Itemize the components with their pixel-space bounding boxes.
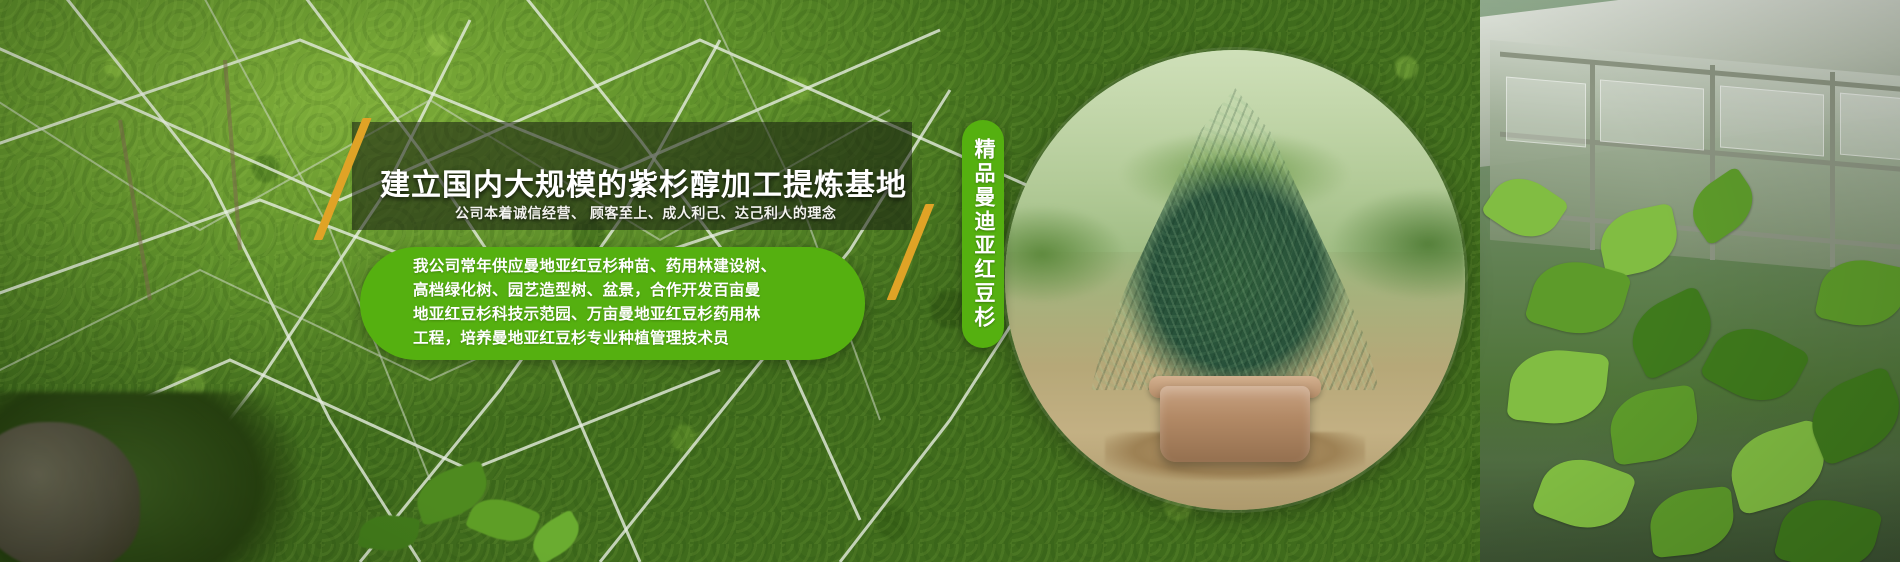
green-message-line: 我公司常年供应曼地亚红豆杉种苗、药用林建设树、 [413, 255, 843, 279]
greenhouse-pane [1506, 77, 1586, 148]
greenhouse-photo-panel [1480, 0, 1900, 562]
vertical-label-text: 精品曼迪亚红豆杉 [962, 120, 1004, 348]
page-title: 建立国内大规模的紫杉醇加工提炼基地 [380, 160, 900, 204]
green-message-text: 我公司常年供应曼地亚红豆杉种苗、药用林建设树、 高档绿化树、园艺造型树、盆景，合… [413, 255, 843, 351]
green-message-line: 工程，培养曼地亚红豆杉专业种植管理技术员 [413, 327, 843, 351]
greenhouse-pane [1600, 79, 1704, 150]
greenhouse-pane [1720, 85, 1824, 156]
greenhouse-pane [1840, 93, 1900, 162]
hero-banner: 建立国内大规模的紫杉醇加工提炼基地 公司本着诚信经营、 顾客至上、成人利己、达己… [0, 0, 1900, 562]
greenhouse-frame [1830, 72, 1835, 267]
topiary-circle-inset [1005, 50, 1465, 510]
green-message-line: 高档绿化树、园艺造型树、盆景，合作开发百亩曼 [413, 279, 843, 303]
flower-pot [1160, 386, 1310, 462]
page-subtitle: 公司本着诚信经营、 顾客至上、成人利己、达己利人的理念 [455, 203, 925, 223]
green-message-line: 地亚红豆杉科技示范园、万亩曼地亚红豆杉药用林 [413, 303, 843, 327]
greenhouse-frame [1590, 60, 1595, 250]
